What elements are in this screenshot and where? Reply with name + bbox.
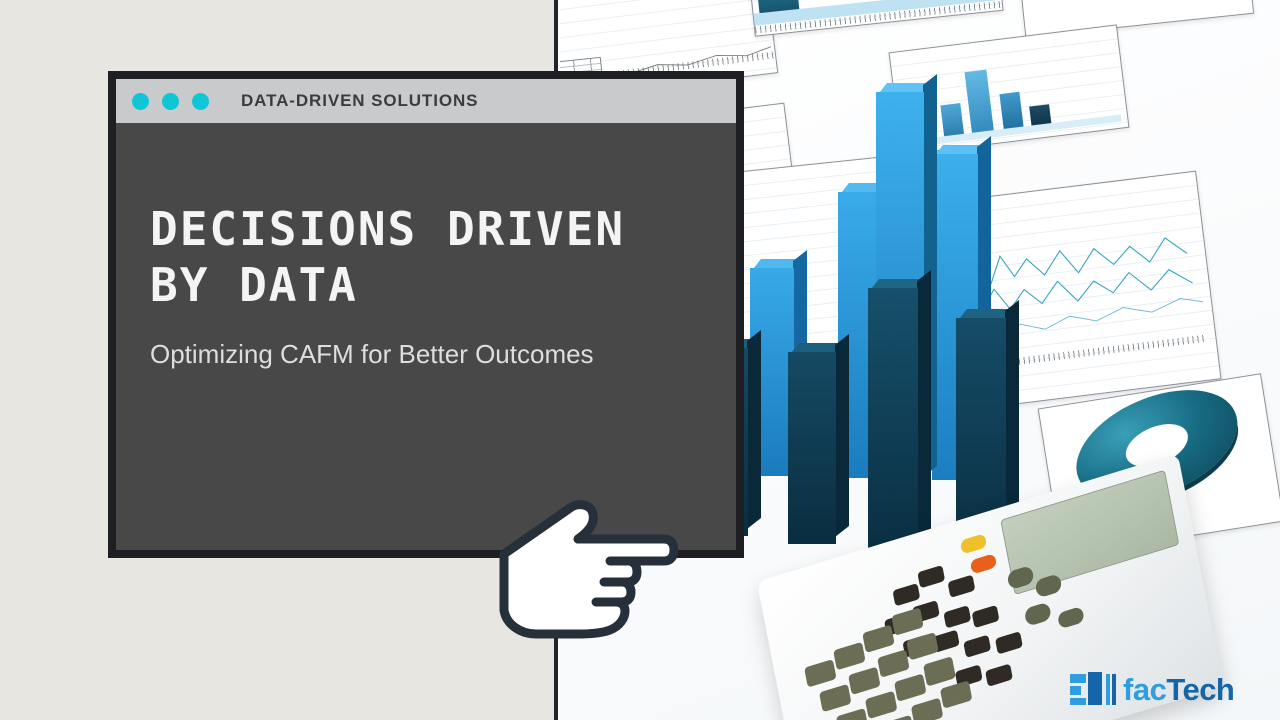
bar-front-4: [788, 352, 836, 544]
minimize-dot-icon[interactable]: [162, 93, 179, 110]
calculator-key-on: [960, 533, 988, 554]
page-subtitle: Optimizing CAFM for Better Outcomes: [150, 339, 736, 370]
window-body: Decisions Driven by Data Optimizing CAFM…: [116, 123, 736, 550]
calculator-key-nav-left: [1057, 606, 1085, 629]
window-controls[interactable]: [132, 93, 209, 110]
bar-front-5: [868, 288, 918, 550]
bar-chart-paper-top: [742, 0, 1003, 37]
building-blocks-icon: [1070, 672, 1116, 706]
logo-text-light: fac: [1123, 672, 1166, 707]
factech-logo: facTech: [1070, 672, 1234, 706]
maximize-dot-icon[interactable]: [192, 93, 209, 110]
page-title: Decisions Driven by Data: [150, 201, 695, 313]
pointing-hand-cursor[interactable]: [492, 492, 678, 650]
logo-wordmark: facTech: [1123, 674, 1234, 705]
pointing-hand-icon[interactable]: [492, 492, 678, 650]
calculator-key-nav-down: [1024, 601, 1052, 626]
calculator-key-off: [970, 553, 998, 574]
logo-text-dark: Tech: [1166, 672, 1234, 707]
presentation-window: DATA-DRIVEN SOLUTIONS Decisions Driven b…: [108, 71, 744, 558]
window-titlebar: DATA-DRIVEN SOLUTIONS: [116, 79, 736, 123]
window-title: DATA-DRIVEN SOLUTIONS: [241, 91, 478, 111]
close-dot-icon[interactable]: [132, 93, 149, 110]
